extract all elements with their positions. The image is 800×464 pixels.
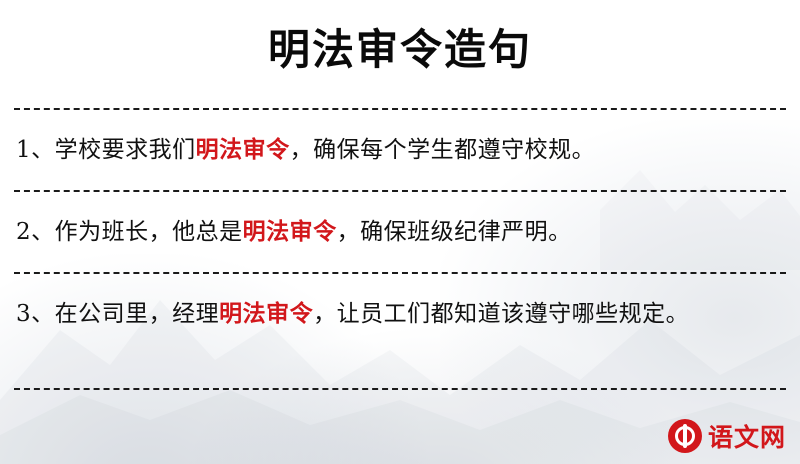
sentence-3-index: 3、: [16, 301, 55, 327]
divider-bottom: [14, 388, 786, 390]
sentence-3-before: 在公司里，经理: [55, 301, 220, 327]
sentence-2-index: 2、: [16, 219, 55, 245]
sentence-1-before: 学校要求我们: [55, 137, 196, 163]
ink-wash-bottom: [180, 324, 700, 464]
sentence-3-keyword: 明法审令: [219, 300, 313, 327]
sentence-1-keyword: 明法审令: [196, 136, 290, 163]
yuwen-logo-icon: [668, 419, 702, 453]
document-page: 明法审令造句 1、学校要求我们明法审令，确保每个学生都遵守校规。 2、作为班长，…: [0, 0, 800, 464]
sentence-2-before: 作为班长，他总是: [55, 219, 243, 245]
sentence-3-after: ，让员工们都知道该遵守哪些规定。: [313, 301, 689, 327]
sentence-2-keyword: 明法审令: [243, 218, 337, 245]
ink-wash-right: [440, 120, 800, 464]
sentence-1-after: ，确保每个学生都遵守校规。: [290, 137, 596, 163]
divider-top: [14, 108, 786, 110]
divider-2: [14, 272, 786, 274]
sentence-2-after: ，确保班级纪律严明。: [337, 219, 572, 245]
sentence-1-index: 1、: [16, 137, 55, 163]
page-title: 明法审令造句: [0, 22, 800, 78]
example-sentence-3: 3、在公司里，经理明法审令，让员工们都知道该遵守哪些规定。: [16, 294, 786, 334]
divider-1: [14, 190, 786, 192]
watermark-logo: 语文网: [668, 418, 786, 454]
example-sentence-1: 1、学校要求我们明法审令，确保每个学生都遵守校规。: [16, 130, 786, 170]
ink-wash-left: [0, 254, 430, 464]
watermark-text: 语文网: [708, 418, 786, 454]
example-sentence-2: 2、作为班长，他总是明法审令，确保班级纪律严明。: [16, 212, 786, 252]
